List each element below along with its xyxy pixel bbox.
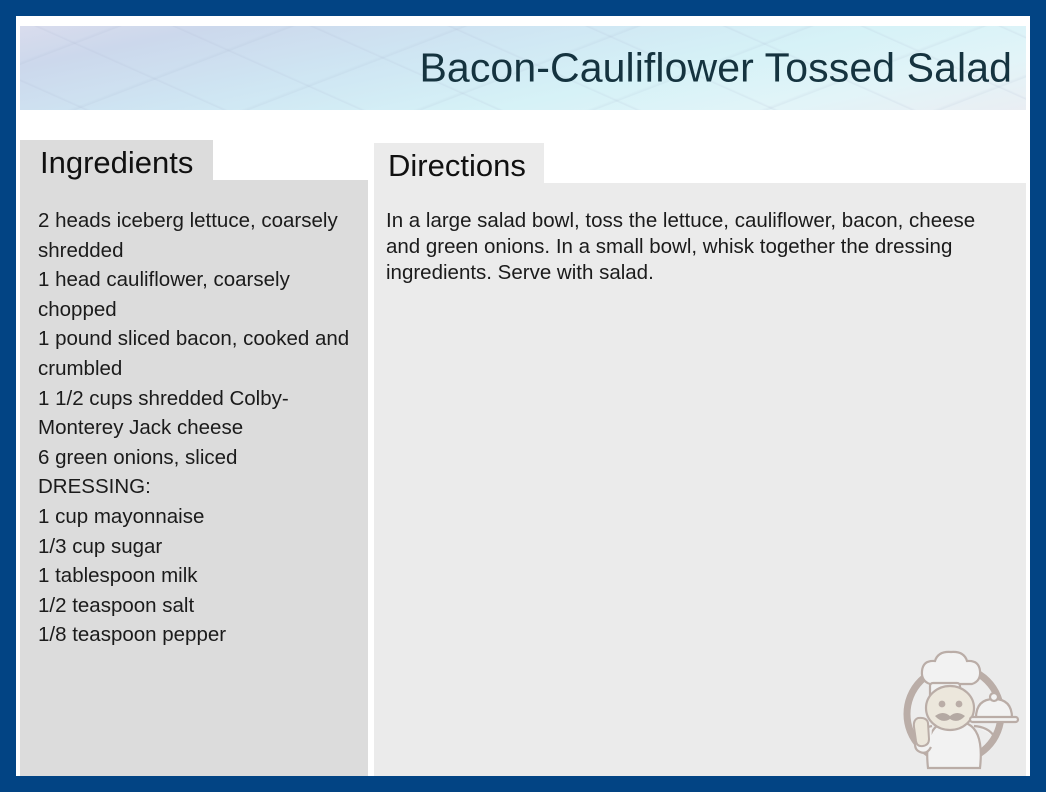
panel-divider — [368, 180, 374, 791]
list-item: 1/8 teaspoon pepper — [38, 620, 363, 650]
ingredients-list: 2 heads iceberg lettuce, coarsely shredd… — [38, 206, 363, 650]
list-item: 1/3 cup sugar — [38, 532, 363, 562]
list-item: 1 head cauliflower, coarsely chopped — [38, 265, 363, 324]
list-item: 2 heads iceberg lettuce, coarsely shredd… — [38, 206, 363, 265]
recipe-slide: Bacon-Cauliflower Tossed Salad Ingredien… — [0, 0, 1046, 792]
list-item: 1 pound sliced bacon, cooked and crumble… — [38, 324, 363, 383]
chef-logo-icon — [888, 642, 1020, 770]
list-item: 1 1/2 cups shredded Colby-Monterey Jack … — [38, 384, 363, 443]
title-banner: Bacon-Cauliflower Tossed Salad — [20, 26, 1026, 110]
list-item: 1 tablespoon milk — [38, 561, 363, 591]
list-item: 1 cup mayonnaise — [38, 502, 363, 532]
ingredients-heading: Ingredients — [40, 147, 193, 178]
directions-heading: Directions — [388, 150, 526, 181]
list-item: 1/2 teaspoon salt — [38, 591, 363, 621]
list-item: 6 green onions, sliced — [38, 443, 363, 473]
directions-body: In a large salad bowl, toss the lettuce,… — [386, 208, 1014, 286]
list-item: DRESSING: — [38, 472, 363, 502]
page-title: Bacon-Cauliflower Tossed Salad — [419, 45, 1012, 90]
